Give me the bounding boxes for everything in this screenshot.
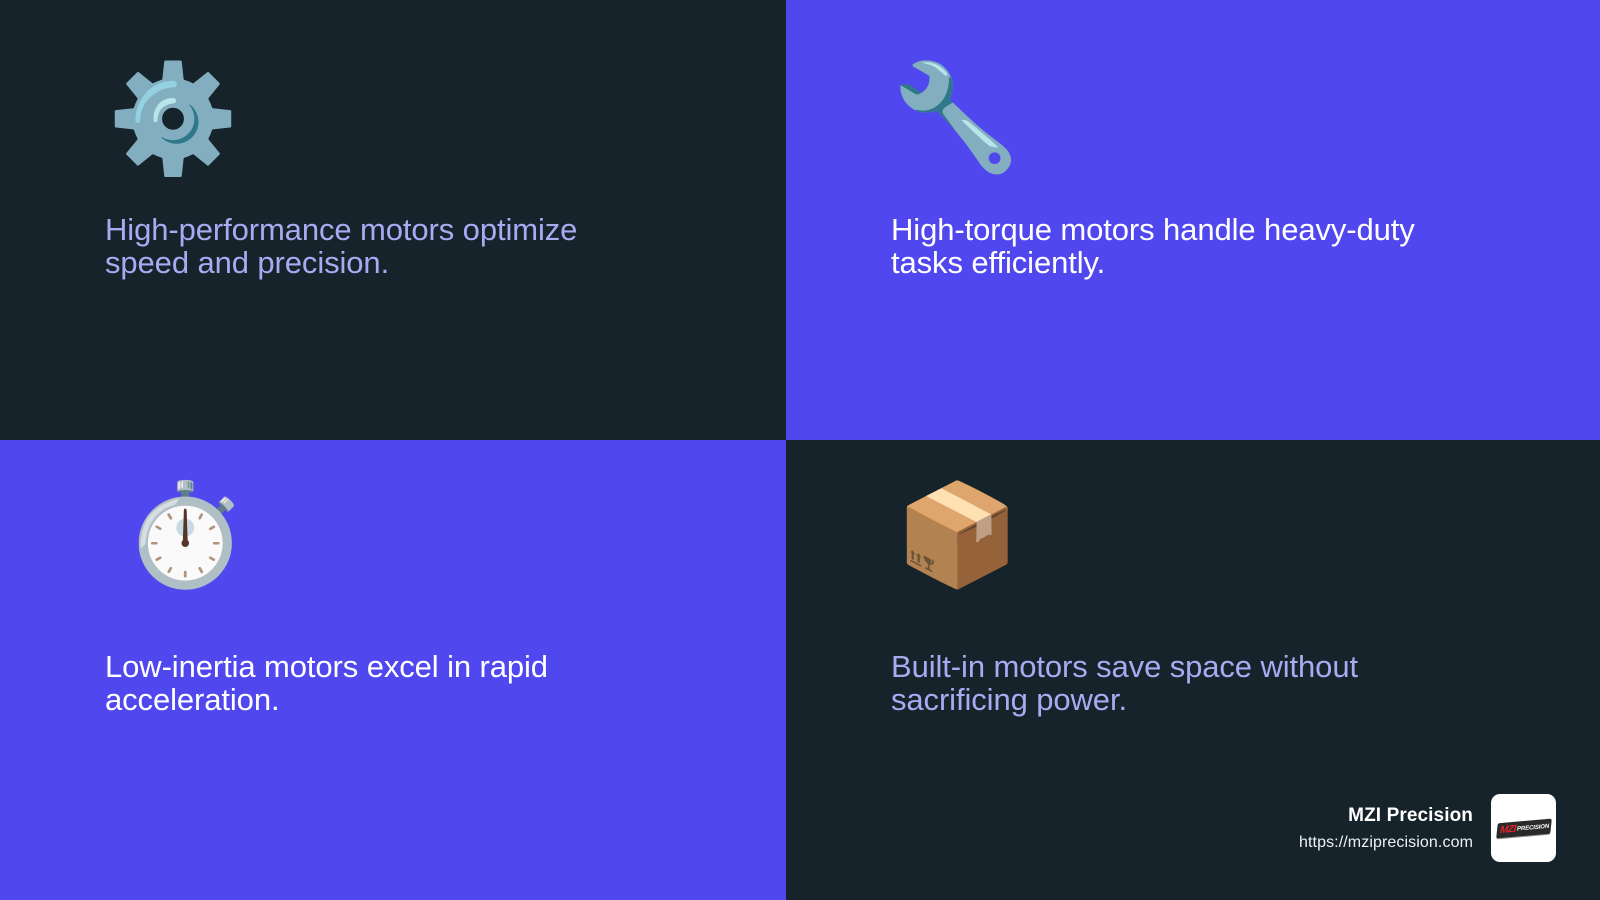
brand-text-block: MZI Precision https://mziprecision.com — [1299, 805, 1473, 852]
brand-name: MZI Precision — [1348, 805, 1473, 827]
package-box-icon: 📦 — [895, 485, 1025, 603]
logo-primary-text: MZI — [1496, 823, 1516, 836]
gear-icon: ⚙️ — [107, 66, 237, 184]
panel-high-torque: 🔧 High-torque motors handle heavy-duty t… — [786, 0, 1600, 440]
panel-built-in: 📦 Built-in motors save space without sac… — [786, 440, 1600, 900]
panel-caption-high-torque: High-torque motors handle heavy-duty tas… — [891, 214, 1471, 280]
brand-url[interactable]: https://mziprecision.com — [1299, 834, 1473, 852]
quadrant-infographic: ⚙️ High-performance motors optimize spee… — [0, 0, 1600, 900]
logo-secondary-text: PRECISION — [1515, 823, 1549, 832]
stopwatch-icon: ⏱️ — [123, 485, 253, 603]
panel-caption-high-performance: High-performance motors optimize speed a… — [105, 214, 645, 280]
brand-logo-badge: MZI PRECISION — [1491, 794, 1556, 862]
logo-banner: MZI PRECISION — [1496, 818, 1552, 838]
panel-low-inertia: ⏱️ Low-inertia motors excel in rapid acc… — [0, 440, 786, 900]
brand-block: MZI Precision https://mziprecision.com M… — [1299, 794, 1556, 862]
wrench-icon: 🔧 — [891, 66, 1021, 184]
panel-caption-built-in: Built-in motors save space without sacri… — [891, 651, 1431, 717]
panel-caption-low-inertia: Low-inertia motors excel in rapid accele… — [105, 651, 685, 717]
panel-high-performance: ⚙️ High-performance motors optimize spee… — [0, 0, 786, 440]
